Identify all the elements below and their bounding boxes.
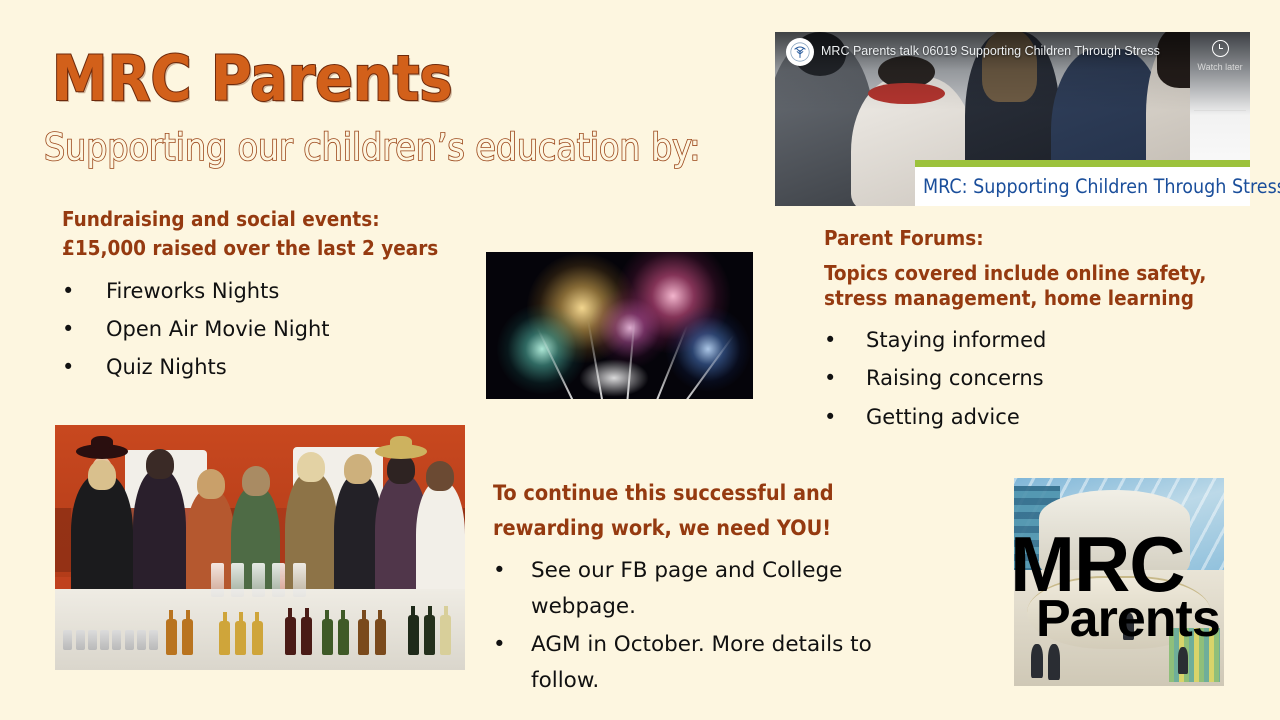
bullet-icon: • — [824, 398, 836, 437]
watch-later-label: Watch later — [1197, 62, 1242, 72]
list-item: • Fireworks Nights — [62, 272, 462, 310]
parent-forums-subheading: Topics covered include online safety, st… — [824, 261, 1254, 311]
list-item: • AGM in October. More details to follow… — [493, 627, 923, 699]
list-item-label: Quiz Nights — [106, 348, 462, 386]
bullet-icon: • — [493, 627, 506, 663]
bullet-icon: • — [62, 310, 74, 348]
video-caption-text: MRC: Supporting Children Through Stress — [915, 175, 1280, 198]
list-item: • Raising concerns — [824, 359, 1254, 398]
divider — [1194, 110, 1246, 111]
fireworks-image — [486, 252, 753, 399]
bullet-icon: • — [62, 272, 74, 310]
list-item-label: Staying informed — [866, 321, 1254, 360]
call-to-action-heading: To continue this successful and rewardin… — [493, 476, 923, 547]
list-item-label: Getting advice — [866, 398, 1254, 437]
list-item: • Quiz Nights — [62, 348, 462, 386]
fundraising-heading-line2: £15,000 raised over the last 2 years — [62, 234, 462, 263]
clock-icon — [1212, 40, 1229, 57]
list-item-label: Raising concerns — [866, 359, 1254, 398]
group-photo-image — [55, 425, 465, 670]
bullet-icon: • — [824, 321, 836, 360]
bullet-icon: • — [824, 359, 836, 398]
call-to-action-bullet-list: • See our FB page and College webpage. •… — [493, 553, 923, 699]
list-item: • Getting advice — [824, 398, 1254, 437]
mrc-parents-logo-image: MRC Parents — [1014, 478, 1224, 686]
fundraising-heading-line1: Fundraising and social events: — [62, 207, 380, 231]
fundraising-bullet-list: • Fireworks Nights • Open Air Movie Nigh… — [62, 272, 462, 386]
list-item-label: AGM in October. More details to follow. — [531, 627, 923, 699]
fundraising-block: Fundraising and social events: £15,000 r… — [62, 205, 462, 386]
parent-forums-heading: Parent Forums: — [824, 224, 1254, 253]
logo-parents-text: Parents — [1036, 593, 1220, 645]
list-item: • Open Air Movie Night — [62, 310, 462, 348]
channel-avatar-icon[interactable] — [786, 38, 814, 66]
bullet-icon: • — [493, 553, 506, 589]
list-item-label: Fireworks Nights — [106, 272, 462, 310]
page-title: MRC Parents — [52, 48, 453, 110]
call-to-action-block: To continue this successful and rewardin… — [493, 476, 923, 701]
slide-canvas: MRC Parents Supporting our children’s ed… — [0, 0, 1280, 720]
list-item: • See our FB page and College webpage. — [493, 553, 923, 625]
list-item-label: See our FB page and College webpage. — [531, 553, 923, 625]
bullet-icon: • — [62, 348, 74, 386]
list-item-label: Open Air Movie Night — [106, 310, 462, 348]
video-caption-bar: MRC: Supporting Children Through Stress — [915, 167, 1250, 206]
caption-accent-bar — [915, 160, 1250, 167]
video-overlay-title: MRC Parents talk 06019 Supporting Childr… — [821, 42, 1170, 60]
list-item: • Staying informed — [824, 321, 1254, 360]
fundraising-heading: Fundraising and social events: £15,000 r… — [62, 205, 462, 263]
parent-forums-block: Parent Forums: Topics covered include on… — [824, 224, 1254, 436]
parent-forums-bullet-list: • Staying informed • Raising concerns • … — [824, 321, 1254, 437]
page-subtitle: Supporting our children’s education by: — [44, 128, 700, 169]
